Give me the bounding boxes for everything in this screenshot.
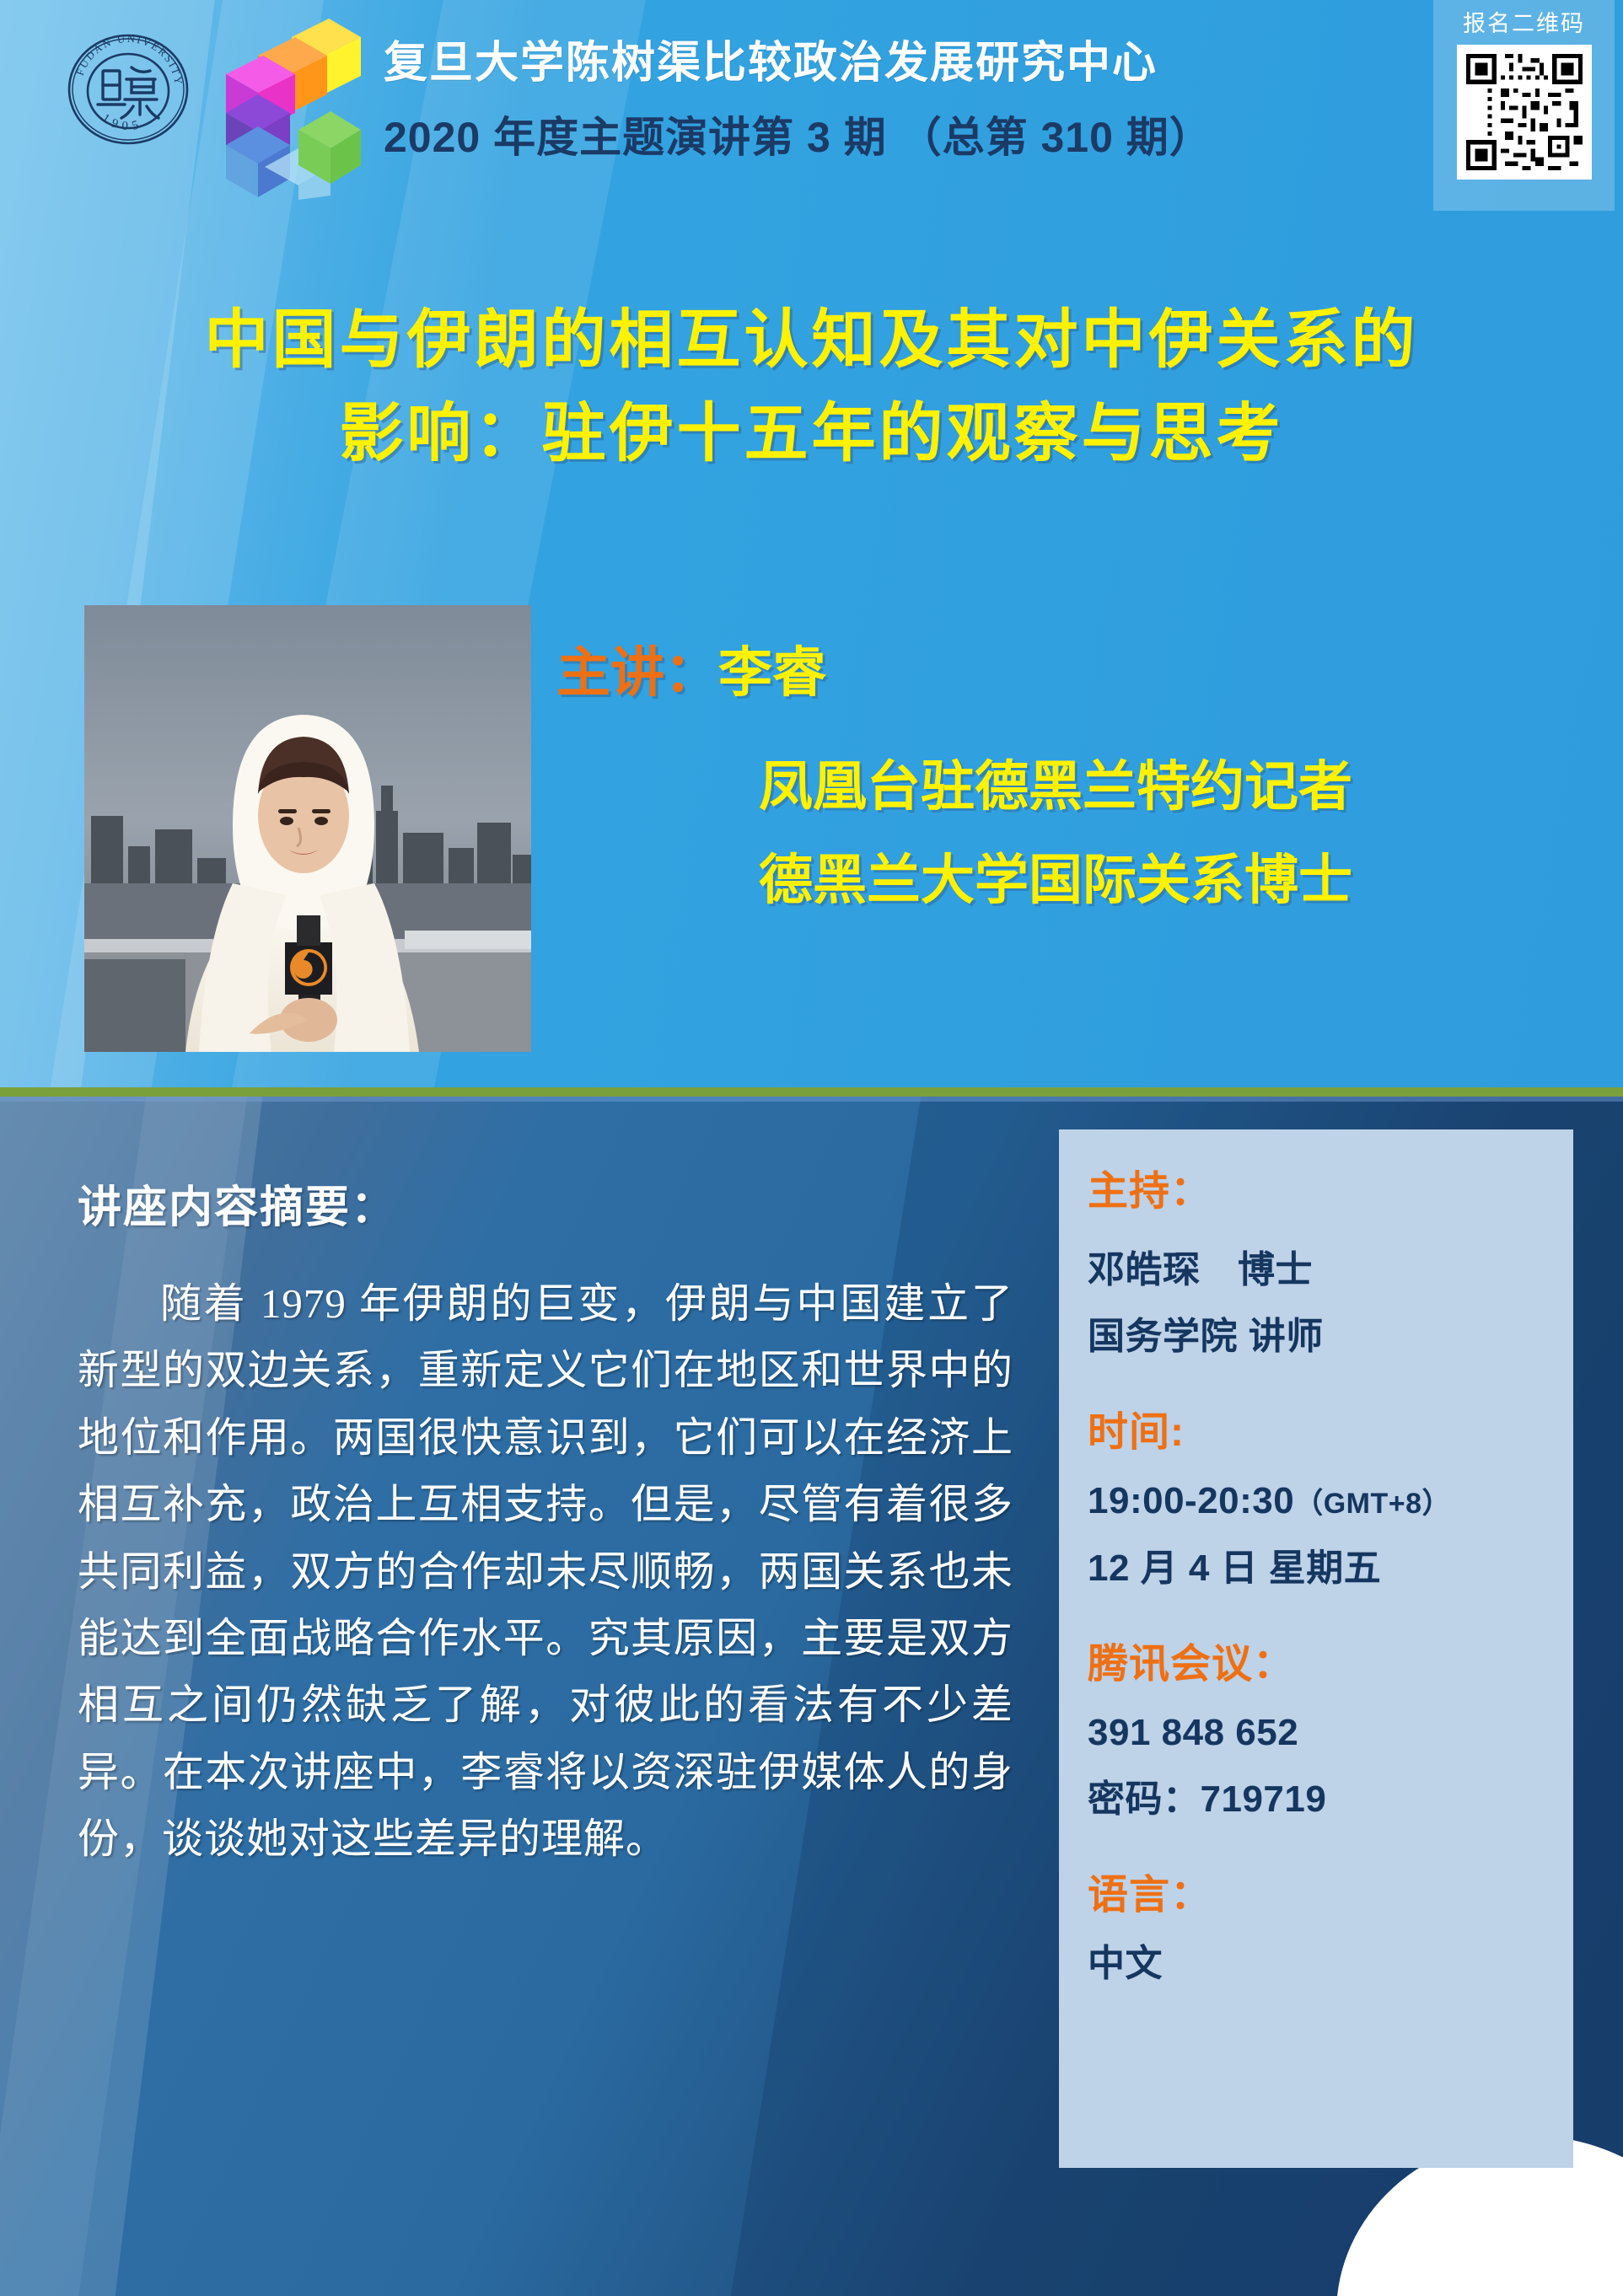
qr-label: 报名二维码 <box>1433 0 1615 38</box>
date-value: 12 月 4 日 星期五 <box>1088 1544 1573 1592</box>
poster-root: FUDAN UNIVERSITY 1905 <box>0 0 1623 2296</box>
speaker-affiliation-1: 凤凰台驻德黑兰特约记者 <box>556 754 1352 819</box>
abstract-body: 随着 1979 年伊朗的巨变，伊朗与中国建立了新型的双边关系，重新定义它们在地区… <box>78 1270 1013 1872</box>
meeting-password[interactable]: 密码：719719 <box>1088 1775 1573 1823</box>
section-divider-shadow <box>0 1097 1623 1102</box>
section-divider <box>0 1087 1623 1097</box>
abstract-heading: 讲座内容摘要： <box>78 1172 1013 1235</box>
ccpds-cube-logo-icon <box>218 19 361 200</box>
title-line-2: 影响：驻伊十五年的观察与思考 <box>0 387 1623 480</box>
fudan-seal-icon: FUDAN UNIVERSITY 1905 <box>66 27 191 152</box>
host-label: 主持： <box>1088 1167 1573 1217</box>
registration-qr-code[interactable] <box>1457 45 1592 180</box>
language-value: 中文 <box>1088 1939 1573 1988</box>
org-title: 复旦大学陈树渠比较政治发展研究中心 <box>384 40 1212 87</box>
host-title: 国务学院 讲师 <box>1088 1312 1573 1360</box>
host-name: 邓皓琛 博士 <box>1088 1246 1573 1294</box>
meeting-label: 腾讯会议： <box>1088 1639 1573 1690</box>
speaker-photo <box>84 605 531 1052</box>
qr-block: 报名二维码 <box>1433 0 1615 211</box>
header-text-block: 复旦大学陈树渠比较政治发展研究中心 2020 年度主题演讲第 3 期 （总第 3… <box>384 40 1212 159</box>
abstract-block: 讲座内容摘要： 随着 1979 年伊朗的巨变，伊朗与中国建立了新型的双边关系，重… <box>78 1172 1013 1872</box>
language-label: 语言： <box>1088 1870 1573 1921</box>
time-label: 时间: <box>1088 1408 1573 1458</box>
time-value: 19:00-20:30 <box>1088 1480 1294 1521</box>
time-value-line: 19:00-20:30（GMT+8） <box>1088 1477 1573 1525</box>
time-zone: （GMT+8） <box>1294 1488 1451 1520</box>
speaker-name-line: 主讲：李睿 <box>556 641 1352 705</box>
speaker-name: 李睿 <box>718 642 826 703</box>
speaker-role-label: 主讲： <box>556 642 718 703</box>
series-line: 2020 年度主题演讲第 3 期 （总第 310 期） <box>384 115 1212 160</box>
svg-text:1905: 1905 <box>99 111 145 133</box>
meeting-id[interactable]: 391 848 652 <box>1088 1709 1573 1757</box>
speaker-affiliation-2: 德黑兰大学国际关系博士 <box>556 848 1352 913</box>
event-info-panel: 主持： 邓皓琛 博士 国务学院 讲师 时间: 19:00-20:30（GMT+8… <box>1059 1129 1573 2168</box>
lecture-title: 中国与伊朗的相互认知及其对中伊关系的 影响：驻伊十五年的观察与思考 <box>0 293 1623 480</box>
speaker-block: 主讲：李睿 凤凰台驻德黑兰特约记者 德黑兰大学国际关系博士 <box>556 641 1352 912</box>
title-line-1: 中国与伊朗的相互认知及其对中伊关系的 <box>0 293 1623 387</box>
